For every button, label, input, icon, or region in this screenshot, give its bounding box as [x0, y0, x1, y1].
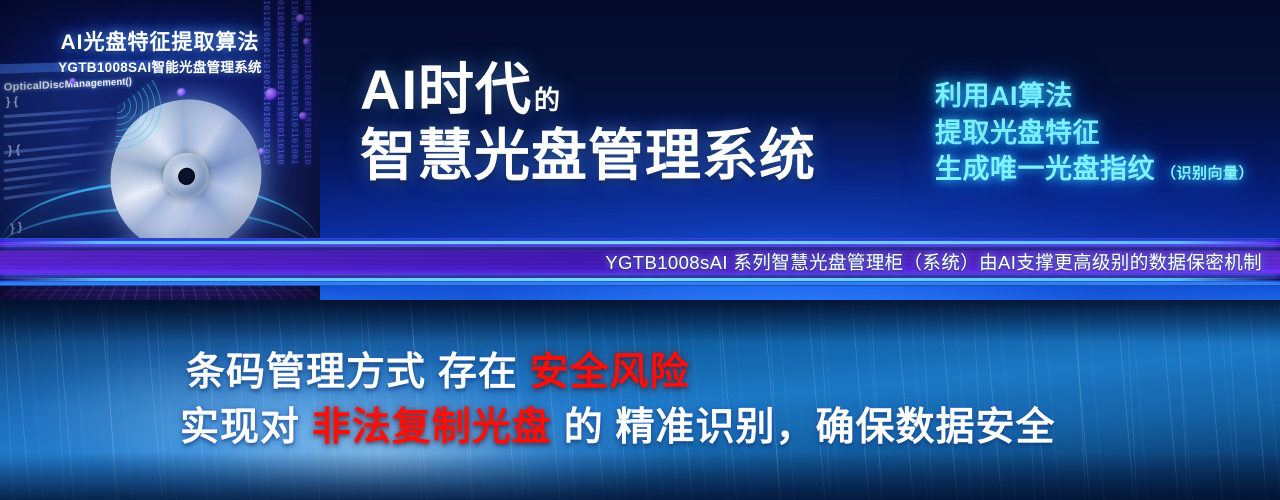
- main-title-line-2: 智慧光盘管理系统: [360, 128, 920, 184]
- feature-list-item-3-note: （识别向量）: [1161, 165, 1254, 182]
- feature-list-item-2: 提取光盘特征: [935, 115, 1254, 152]
- main-title-block: AI时代的 智慧光盘管理系统: [360, 62, 920, 184]
- bottom-line-2-text-start: 实现对: [180, 406, 312, 449]
- feature-list-item-3: 生成唯一光盘指纹（识别向量）: [935, 151, 1254, 188]
- bottom-line-1-highlight: 安全风险: [530, 351, 690, 394]
- bottom-line-2-highlight: 非法复制光盘: [312, 406, 552, 449]
- feature-list-item-1: 利用AI算法: [935, 78, 1254, 115]
- bottom-line-2-text-end: 的 精准识别，确保数据安全: [552, 406, 1056, 449]
- bottom-message-line-2: 实现对 非法复制光盘 的 精准识别，确保数据安全: [180, 400, 1280, 455]
- top-section: OpticalDiscManagement() } { } { } }: [0, 0, 1280, 300]
- feature-list-item-3-text: 生成唯一光盘指纹: [935, 154, 1155, 184]
- left-panel-subheading: YGTB1008SAI智能光盘管理系统: [0, 56, 320, 76]
- bottom-message-block: 条码管理方式 存在 安全风险 实现对 非法复制光盘 的 精准识别，确保数据安全: [0, 300, 1280, 500]
- main-title-text: AI时代: [360, 58, 532, 121]
- bottom-section: 条码管理方式 存在 安全风险 实现对 非法复制光盘 的 精准识别，确保数据安全: [0, 300, 1280, 500]
- main-title-particle: 的: [534, 85, 561, 115]
- promo-banner: OpticalDiscManagement() } { } { } }: [0, 0, 1280, 500]
- main-title-line-1: AI时代的: [360, 62, 920, 118]
- left-panel-heading: AI光盘特征提取算法: [0, 26, 320, 56]
- bottom-message-line-1: 条码管理方式 存在 安全风险: [186, 345, 1280, 400]
- subtitle-stripe-bar: YGTB1008sAI 系列智慧光盘管理柜（系统）由AI支撑更高级别的数据保密机…: [0, 238, 1280, 286]
- bottom-line-1-text: 条码管理方式 存在: [186, 351, 530, 394]
- feature-list: 利用AI算法 提取光盘特征 生成唯一光盘指纹（识别向量）: [935, 78, 1254, 188]
- subtitle-text: YGTB1008sAI 系列智慧光盘管理柜（系统）由AI支撑更高级别的数据保密机…: [0, 238, 1280, 286]
